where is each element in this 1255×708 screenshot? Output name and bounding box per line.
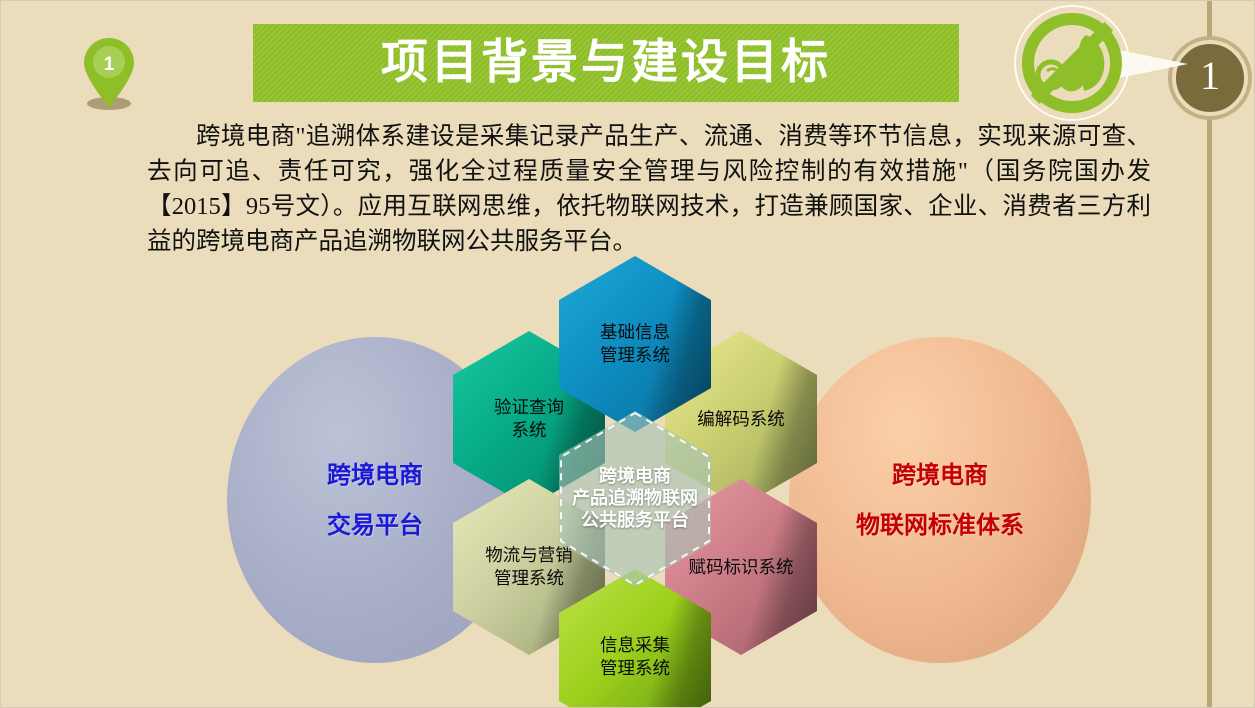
hex-upleft-label: 验证查询系统	[488, 396, 570, 442]
pin-number: 1	[104, 54, 115, 75]
icon-outer-ring	[1014, 5, 1130, 121]
right-circle-line-2: 物联网标准体系	[856, 513, 1024, 537]
body-paragraph: 跨境电商"追溯体系建设是采集记录产品生产、流通、消费等环节信息，实现来源可查、去…	[147, 119, 1151, 259]
right-concept-circle: 跨境电商 物联网标准体系	[789, 337, 1091, 663]
hex-loright-label: 赋码标识系统	[683, 556, 800, 579]
hex-center-label: 跨境电商 产品追溯物联网 公共服务平台	[572, 466, 698, 532]
slide-title-banner: 项目背景与建设目标	[253, 24, 959, 102]
left-circle-line-2: 交易平台	[327, 513, 423, 537]
hex-top-label: 基础信息管理系统	[594, 321, 676, 367]
left-circle-line-1: 跨境电商	[327, 463, 423, 487]
hex-bottom-label: 信息采集管理系统	[594, 634, 676, 680]
diagram-stage: 跨境电商 交易平台 跨境电商 物联网标准体系 验证查询系统 编解码系统 物流与营…	[1, 251, 1255, 691]
slide-number-badge-value: 1	[1200, 56, 1220, 96]
page-title: 项目背景与建设目标	[381, 39, 831, 86]
slide-number-badge: 1	[1172, 40, 1248, 116]
slide-canvas: 1 1 项目背景与建设目标 跨境电商"追溯体系建设是采集记录产品生产	[0, 0, 1255, 708]
hex-loleft-label: 物流与营销管理系统	[479, 544, 579, 590]
map-pin-marker: 1	[83, 37, 135, 112]
hex-upright-label: 编解码系统	[691, 408, 791, 431]
no-entry-head-icon	[1014, 5, 1134, 125]
right-circle-line-1: 跨境电商	[892, 463, 988, 487]
